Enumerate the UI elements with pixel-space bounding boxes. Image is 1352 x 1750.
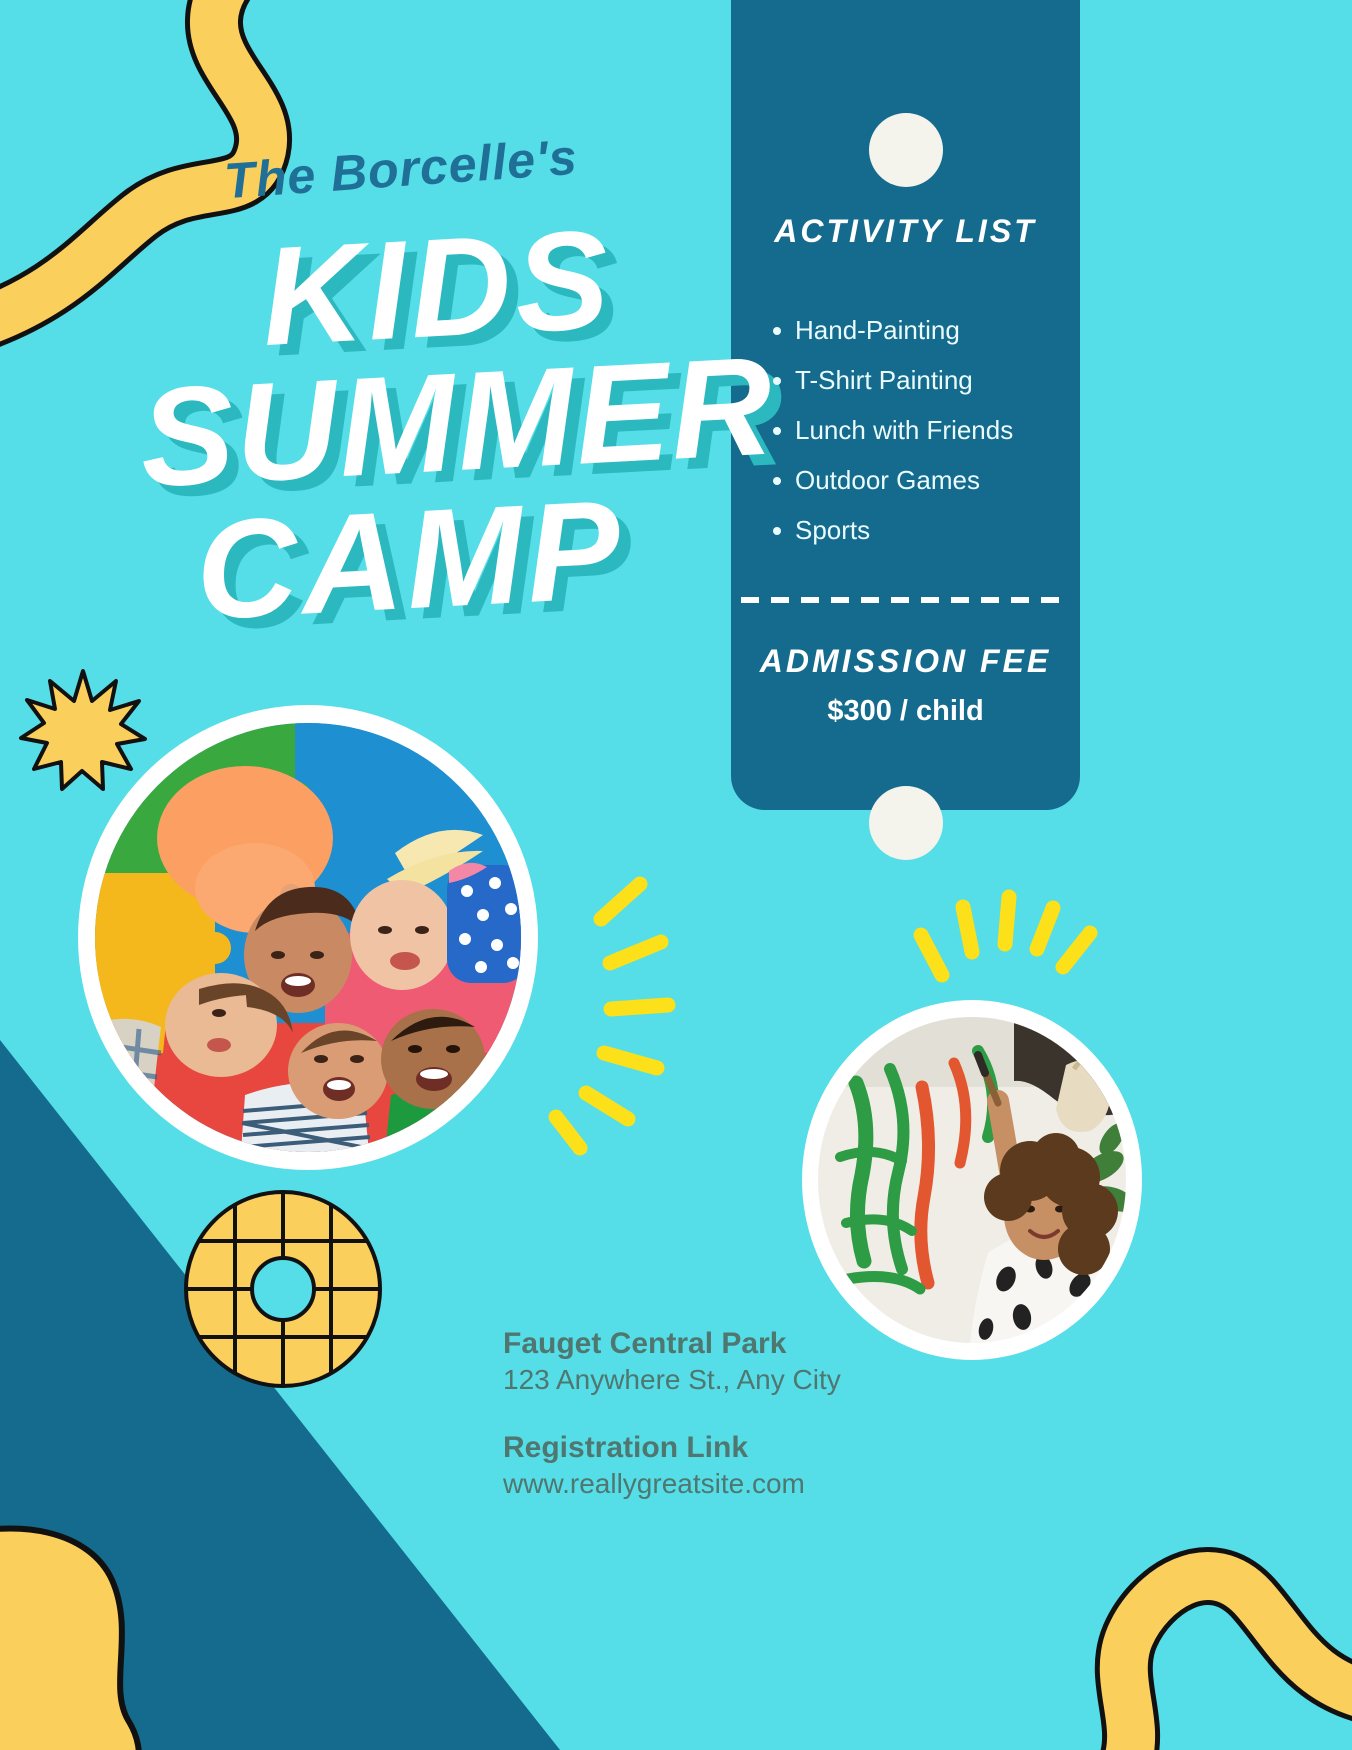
sparkle-rays-left <box>556 884 668 1148</box>
sparkle-rays-right <box>921 897 1090 975</box>
dashed-divider <box>741 597 1071 603</box>
footer-info: Fauget Central Park 123 Anywhere St., An… <box>503 1325 1063 1502</box>
panel-dot-top-icon <box>869 113 943 187</box>
panel-dot-bottom-icon <box>869 786 943 860</box>
registration-link[interactable]: www.reallygreatsite.com <box>503 1466 1063 1502</box>
starburst-icon <box>21 671 145 789</box>
title-word-summer: SUMMER <box>137 345 777 498</box>
photo-kids-circle <box>78 705 538 1170</box>
venue-name: Fauget Central Park <box>503 1325 1063 1362</box>
venue-address: 123 Anywhere St., Any City <box>503 1362 1063 1398</box>
footer-spacer <box>503 1399 1063 1429</box>
admission-fee-title: ADMISSION FEE <box>731 643 1080 680</box>
list-item: Outdoor Games <box>795 455 1115 505</box>
admission-fee-value: $300 / child <box>731 695 1080 728</box>
donut-grid-icon <box>186 1192 380 1386</box>
list-item: Hand-Painting <box>795 305 1115 355</box>
list-item: Sports <box>795 505 1115 555</box>
activity-list-title: ACTIVITY LIST <box>731 213 1080 250</box>
list-item: T-Shirt Painting <box>795 355 1115 405</box>
activity-list: Hand-Painting T-Shirt Painting Lunch wit… <box>755 305 1115 555</box>
registration-label: Registration Link <box>503 1429 1063 1466</box>
photo-painting-image <box>818 1017 1126 1343</box>
list-item: Lunch with Friends <box>795 405 1115 455</box>
photo-painting-circle <box>802 1000 1142 1360</box>
poster-canvas: The Borcelle's KIDS SUMMER CAMP ACTIVITY… <box>0 0 1352 1750</box>
photo-kids-image <box>95 723 521 1152</box>
title-word-camp: CAMP <box>193 489 627 632</box>
